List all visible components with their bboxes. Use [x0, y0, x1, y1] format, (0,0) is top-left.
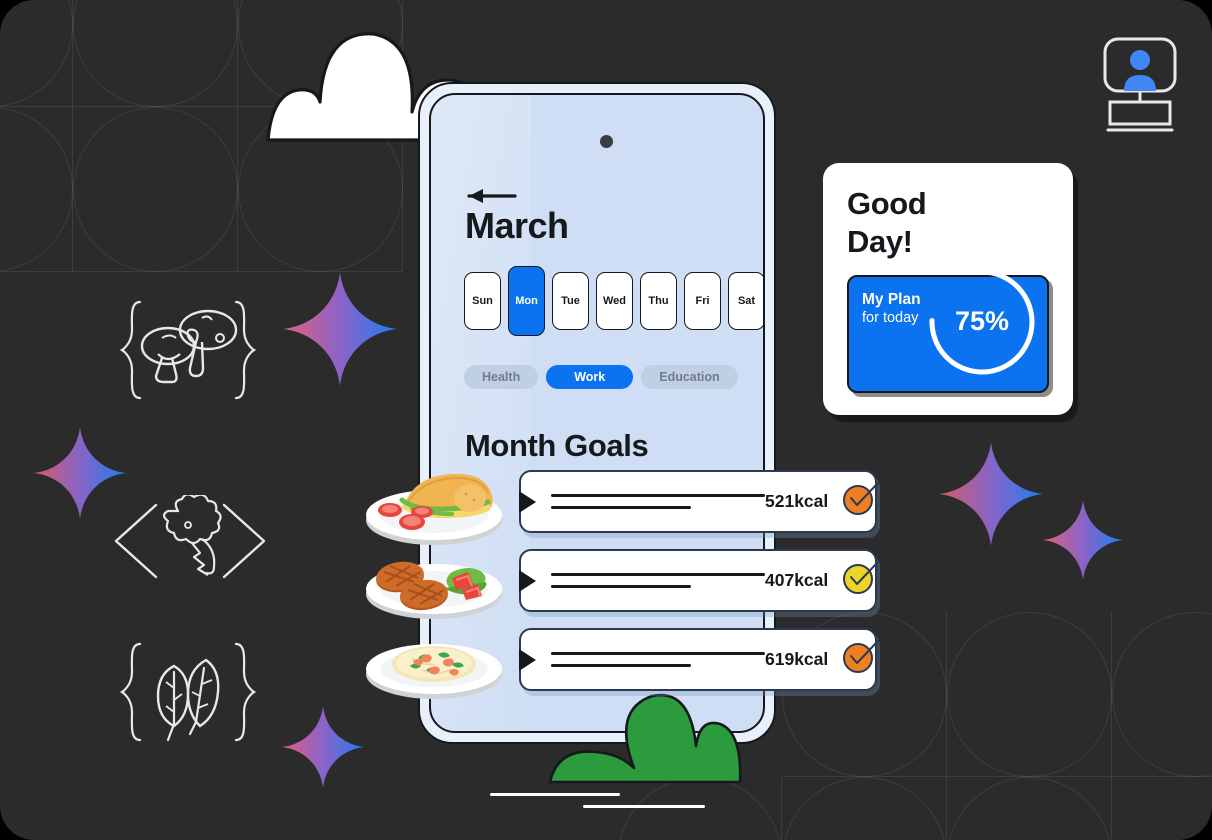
check-circle-icon[interactable]: [840, 478, 882, 525]
task-row[interactable]: 619kcal: [519, 628, 877, 691]
greeting-line-1: Good: [847, 185, 1049, 223]
category-chip-health[interactable]: Health: [464, 365, 538, 389]
page-title: March: [465, 205, 569, 247]
steak-salad-plate-icon: [360, 538, 508, 624]
my-plan-panel[interactable]: My Plan for today 75%: [847, 275, 1049, 393]
task-calories: 521kcal: [765, 491, 828, 512]
mushrooms-icon: [118, 296, 258, 432]
category-chip-education[interactable]: Education: [641, 365, 737, 389]
plan-labels: My Plan for today: [862, 290, 921, 328]
category-chip-work[interactable]: Work: [546, 365, 633, 389]
task-text-placeholder: [551, 494, 765, 509]
task-list: 521kcal 407kcal 619kcal: [519, 470, 877, 707]
task-text-placeholder: [551, 573, 765, 588]
progress-percent-label: 75%: [923, 263, 1041, 381]
illustration-canvas: March Sun Mon Tue Wed Thu Fri Sat Health…: [0, 0, 1212, 840]
weekday-selector[interactable]: Sun Mon Tue Wed Thu Fri Sat: [464, 272, 765, 336]
task-row[interactable]: 407kcal: [519, 549, 877, 612]
sparkle-icon-1: [283, 272, 397, 386]
ground-line-1: [490, 793, 620, 796]
day-chip-mon[interactable]: Mon: [508, 266, 545, 336]
ground-line-2: [583, 805, 705, 808]
task-calories: 407kcal: [765, 570, 828, 591]
check-circle-icon[interactable]: [840, 636, 882, 683]
task-calories: 619kcal: [765, 649, 828, 670]
camera-dot-icon: [600, 135, 613, 148]
user-presentation-icon: [1102, 36, 1178, 134]
back-arrow-icon[interactable]: [467, 187, 517, 205]
task-text-placeholder: [551, 652, 765, 667]
broccoli-icon: [110, 495, 270, 587]
check-circle-icon[interactable]: [840, 557, 882, 604]
day-chip-sun[interactable]: Sun: [464, 272, 501, 330]
sandwich-plate-icon: [360, 458, 508, 548]
sparkle-icon-4: [939, 442, 1043, 546]
pasta-shrimp-plate-icon: [360, 618, 508, 704]
day-chip-wed[interactable]: Wed: [596, 272, 633, 330]
sparkle-icon-5: [1043, 500, 1123, 580]
plan-title: My Plan: [862, 291, 921, 308]
day-chip-thu[interactable]: Thu: [640, 272, 677, 330]
category-filter-row[interactable]: Health Work Education: [464, 365, 738, 389]
play-triangle-icon: [519, 649, 536, 671]
spinach-leaves-icon: [118, 638, 258, 774]
day-chip-fri[interactable]: Fri: [684, 272, 721, 330]
good-day-card: Good Day! My Plan for today 75%: [823, 163, 1073, 415]
play-triangle-icon: [519, 491, 536, 513]
greeting-line-2: Day!: [847, 223, 1049, 261]
sparkle-icon-3: [282, 706, 364, 788]
day-chip-sat[interactable]: Sat: [728, 272, 765, 330]
task-row[interactable]: 521kcal: [519, 470, 877, 533]
greeting-title: Good Day!: [847, 185, 1049, 261]
plan-subtitle: for today: [862, 309, 921, 327]
day-chip-tue[interactable]: Tue: [552, 272, 589, 330]
play-triangle-icon: [519, 570, 536, 592]
